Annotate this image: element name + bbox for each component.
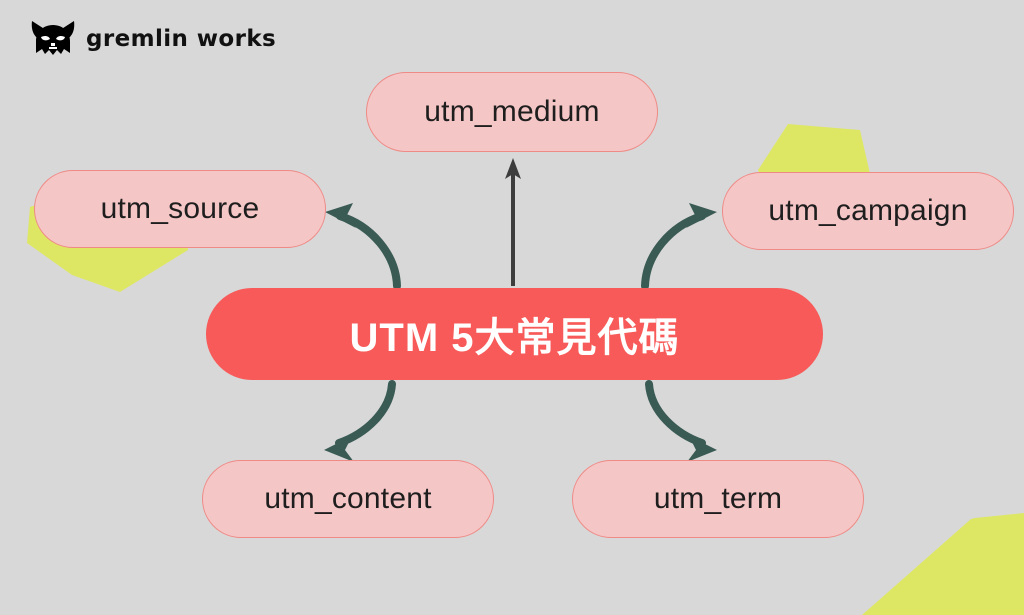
node-utm-campaign[interactable]: utm_campaign (722, 172, 1014, 250)
diagram-canvas: gremlin works utm_medium (0, 0, 1024, 615)
brand-logo: gremlin works (30, 20, 276, 58)
connector-to-medium (505, 158, 521, 286)
connector-to-term (649, 384, 717, 462)
connector-to-campaign (645, 203, 717, 286)
center-hub-label: UTM 5大常見代碼 (350, 305, 680, 363)
node-label: utm_term (654, 482, 782, 516)
gremlin-head-icon (30, 20, 76, 58)
node-utm-term[interactable]: utm_term (572, 460, 864, 538)
node-label: utm_campaign (768, 194, 967, 228)
connector-to-content (324, 384, 392, 462)
node-label: utm_source (101, 192, 260, 226)
node-center-hub[interactable]: UTM 5大常見代碼 (206, 288, 823, 380)
node-utm-source[interactable]: utm_source (34, 170, 326, 248)
node-utm-medium[interactable]: utm_medium (366, 72, 658, 152)
node-label: utm_medium (424, 95, 599, 129)
brand-wordmark: gremlin works (86, 28, 276, 51)
node-label: utm_content (264, 482, 431, 516)
node-utm-content[interactable]: utm_content (202, 460, 494, 538)
connector-to-source (325, 203, 397, 286)
